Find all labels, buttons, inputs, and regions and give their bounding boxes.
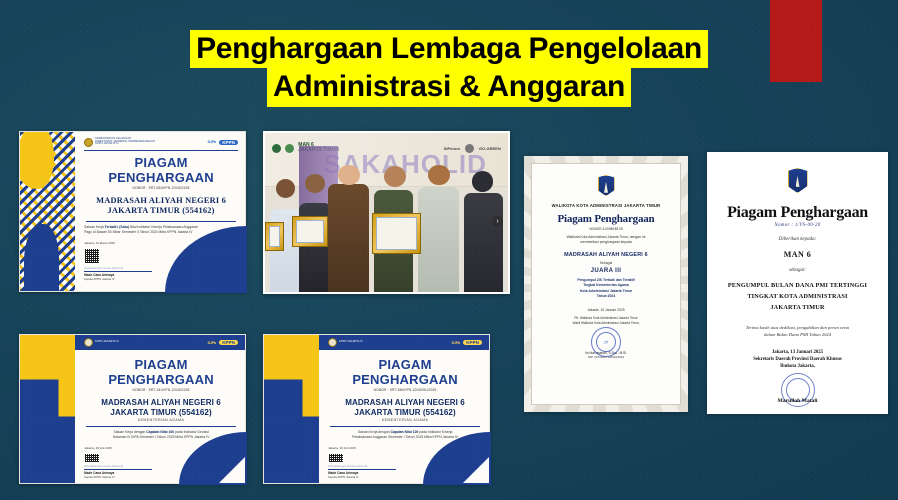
certificate-header: KPPN JAKARTA IV DJPb KPPN xyxy=(75,335,245,350)
signer-name: Marullah Matali xyxy=(778,398,818,404)
award-detail: PENGUMPUL BULAN DANA PMI TERTINGGI TINGK… xyxy=(728,281,867,314)
page-title: Penghargaan Lembaga Pengelolaan Administ… xyxy=(0,30,898,107)
kppn-logo: KPPN xyxy=(219,340,238,345)
recipient-line-2: JAKARTA TIMUR (554162) xyxy=(328,408,482,418)
award-line-1: PENGUMPUL BULAN DANA PMI TERTINGGI xyxy=(728,281,867,292)
award-ceremony-photo[interactable]: SAKAHOLID MAN 6 JAKARTA TIMUR SIPerum GO… xyxy=(263,131,510,294)
person-5-head xyxy=(428,165,450,186)
award-frame-edge xyxy=(265,222,284,251)
ministry-crest-icon xyxy=(84,138,93,147)
certificate-heading: Piagam Penghargaan xyxy=(727,204,868,222)
recipient-line-2: JAKARTA TIMUR (554162) xyxy=(84,408,238,418)
partner-1-label: SIPerum xyxy=(444,146,460,151)
corner-swoosh xyxy=(165,226,247,293)
kppn-logo: KPPN xyxy=(219,140,238,145)
geometric-ornament xyxy=(264,335,319,483)
title-line-2: Administrasi & Anggaran xyxy=(267,68,631,106)
certificate-header: KEMENTERIAN KEUANGAN DIREKTORAT JENDERAL… xyxy=(84,136,238,151)
madrasah-logo-icon xyxy=(285,144,294,153)
desc-prefix: Satuan Kerja xyxy=(84,225,105,229)
given-to-label: Diberikan kepada: xyxy=(779,237,817,242)
desc-prefix: Satuan Kerja dengan xyxy=(113,430,146,434)
signer-title: Pit. Walikota Kota Administrasi Jakarta … xyxy=(572,316,639,326)
person-3 xyxy=(328,184,369,292)
recipient-line-1: MADRASAH ALIYAH NEGERI 6 xyxy=(84,398,238,408)
award-rank: JUARA III xyxy=(591,268,622,274)
certificate-kppn-kinerja-juli[interactable]: KPPN JAKARTA IV DJPb KPPN PIAGAM PENGHAR… xyxy=(263,334,490,484)
place-date: Jakarta, 15 Januari 2025 xyxy=(587,308,624,312)
thanks-text: Terima kasih atas dedikasi, pengabdian d… xyxy=(746,324,849,340)
recipient-name: MAN 6 xyxy=(784,250,812,259)
detail-line-4: Tahun 2024 xyxy=(577,294,634,299)
event-partner-logos: SIPerum GO-GREEN xyxy=(444,144,501,153)
divider xyxy=(86,221,236,222)
recipient-agency: KEMENTERIAN AGAMA xyxy=(328,418,482,422)
person-5 xyxy=(418,187,459,292)
person-2-head xyxy=(305,174,324,193)
chevron-right-icon[interactable]: › xyxy=(492,216,503,227)
kemenag-logo-icon xyxy=(272,144,281,153)
djpb-logo: DJPb xyxy=(452,341,461,345)
certificate-number: NOMOR : SRT-084/KPN.12045/2025 xyxy=(84,186,238,190)
corner-fold xyxy=(463,457,489,483)
partner-2-label: GO-GREEN xyxy=(479,146,501,151)
partner-logo-icon xyxy=(465,144,474,153)
ministry-crest-icon xyxy=(84,338,93,347)
detail-line-2: Tingkat Kementerian Agama xyxy=(577,283,634,288)
qr-code-icon xyxy=(328,453,344,463)
recipient-name: MADRASAH ALIYAH NEGERI 6 JAKARTA TIMUR (… xyxy=(84,398,238,418)
place-and-signer-title: Jakarta, 13 Januari 2025 Sekretaris Daer… xyxy=(753,350,842,371)
geometric-ornament xyxy=(20,335,75,483)
signer-title-line-2: Wakil Walikota Kota Administrasi Jakarta… xyxy=(572,321,639,326)
batik-ornament xyxy=(20,132,75,291)
djpb-logo: DJPb xyxy=(208,341,217,345)
award-frame-left xyxy=(292,216,328,248)
certificate-kppn-terbaik-maret[interactable]: KEMENTERIAN KEUANGAN DIREKTORAT JENDERAL… xyxy=(19,131,246,292)
desc-suffix: pada Indikator Kinerja xyxy=(418,430,452,434)
ministry-logo-block: KPPN JAKARTA IV xyxy=(328,338,363,347)
recipient-name: MADRASAH ALIYAH NEGERI 6 JAKARTA TIMUR (… xyxy=(84,196,238,217)
certificate-heading: PIAGAM PENGHARGAAN xyxy=(328,357,482,387)
stamp-label: JT xyxy=(604,339,609,344)
certificate-heading: PIAGAM PENGHARGAAN xyxy=(84,155,238,185)
person-3-head xyxy=(338,165,360,186)
certificate-kppn-deviasi-juli[interactable]: KPPN JAKARTA IV DJPb KPPN PIAGAM PENGHAR… xyxy=(19,334,246,484)
divider xyxy=(86,426,236,427)
ministry-logo-block: KEMENTERIAN KEUANGAN DIREKTORAT JENDERAL… xyxy=(84,138,155,147)
certificate-heading: PIAGAM PENGHARGAAN xyxy=(84,357,238,387)
place-date: Jakarta, 13 Januari 2025 xyxy=(753,350,842,357)
recipient-line-2: JAKARTA TIMUR (554162) xyxy=(84,206,238,216)
as-label: Sebagai xyxy=(600,261,612,265)
djpb-logo: DJPb xyxy=(208,140,217,144)
desc-highlight: Capaian Nilai 100 xyxy=(391,430,419,434)
divider xyxy=(330,426,480,427)
thanks-line-1: Terima kasih atas dedikasi, pengabdian d… xyxy=(746,324,849,332)
ministry-crest-icon xyxy=(328,338,337,347)
person-4-head xyxy=(384,166,406,187)
signature-rule xyxy=(84,271,152,272)
dki-crest-icon xyxy=(598,175,615,196)
certificate-number: NOMOR : SRT-181/KPN.12045/2025 xyxy=(84,388,238,392)
recipient-line-1: MADRASAH ALIYAH NEGERI 6 xyxy=(328,398,482,408)
ministry-line-3: KPPN JAKARTA IV xyxy=(95,341,119,344)
award-detail: Pengumpul ZIS Terbaik dan Teraktif Tingk… xyxy=(577,278,634,299)
signer-title-line-1: Sekretaris Daerah Provinsi Daerah Khusus xyxy=(753,357,842,364)
certificate-pmi-bulan-dana[interactable]: Piagam Penghargaan Nomor : 1/VS-00-20 Di… xyxy=(707,152,888,414)
award-line-2: TINGKAT KOTA ADMINISTRASI xyxy=(728,292,867,303)
person-6 xyxy=(464,193,503,292)
kppn-logo-block: DJPb KPPN xyxy=(452,340,482,345)
ministry-logo-block: KPPN JAKARTA IV xyxy=(84,338,119,347)
presentation-slide: Penghargaan Lembaga Pengelolaan Administ… xyxy=(0,0,898,500)
official-stamp-icon: JT xyxy=(591,327,621,357)
desc-suffix: pada Indikator Deviasi xyxy=(174,430,209,434)
ministry-line-3: KPPN JAKARTA IV xyxy=(339,341,363,344)
desc-highlight: Terbaik I (Satu) xyxy=(105,225,129,229)
corner-fold xyxy=(219,457,245,483)
qr-code-icon xyxy=(84,248,100,264)
certificate-number: NOMOR : SRT-350/KPN.12045/SU/2025 xyxy=(328,388,482,392)
certificate-walikota-zis[interactable]: WALIKOTA KOTA ADMINISTRASI JAKARTA TIMUR… xyxy=(524,156,688,412)
kppn-logo-block: DJPb KPPN xyxy=(208,340,238,345)
recipient-name: MADRASAH ALIYAH NEGERI 6 xyxy=(564,252,648,258)
certificate-header: KPPN JAKARTA IV DJPb KPPN xyxy=(319,335,489,350)
award-line-3: JAKARTA TIMUR xyxy=(728,303,867,314)
issuer-name: WALIKOTA KOTA ADMINISTRASI JAKARTA TIMUR xyxy=(552,203,661,208)
desc-prefix: Satuan Kerja dengan xyxy=(358,430,391,434)
certificate-number: Nomor : 1/VS-00-20 xyxy=(774,223,820,228)
as-label: sebagai: xyxy=(789,268,806,273)
recipient-agency: KEMENTERIAN AGAMA xyxy=(84,418,238,422)
recipient-name: MADRASAH ALIYAH NEGERI 6 JAKARTA TIMUR (… xyxy=(328,398,482,418)
desc-suffix: Nilai Indikator Kinerja Pelaksanaan Angg… xyxy=(129,225,198,229)
certificate-intro: Walikota Kota Administrasi Jakarta Timur… xyxy=(567,235,646,245)
title-line-1: Penghargaan Lembaga Pengelolaan xyxy=(190,30,708,68)
signer-title-line-2: Ibukota Jakarta, xyxy=(753,364,842,371)
qr-code-icon xyxy=(84,453,100,463)
intro-line-2: memberikan penghargaan kepada xyxy=(567,240,646,245)
certificate-heading: Piagam Penghargaan xyxy=(558,213,655,225)
kppn-logo-block: DJPb KPPN xyxy=(208,140,238,145)
award-frame-held xyxy=(372,213,421,254)
desc-highlight: Capaian Nilai 100 xyxy=(146,430,174,434)
person-6-head xyxy=(472,171,494,192)
kppn-logo: KPPN xyxy=(463,340,482,345)
certificate-number: NOMOR 4-0008/HM.05 xyxy=(589,227,622,231)
dki-crest-icon xyxy=(788,168,808,193)
ministry-line-3: KPPN JAKARTA IV xyxy=(95,143,155,146)
thanks-line-2: dalam Bulan Dana PMI Tahun 2024 xyxy=(746,331,849,339)
recipient-line-1: MADRASAH ALIYAH NEGERI 6 xyxy=(84,196,238,206)
